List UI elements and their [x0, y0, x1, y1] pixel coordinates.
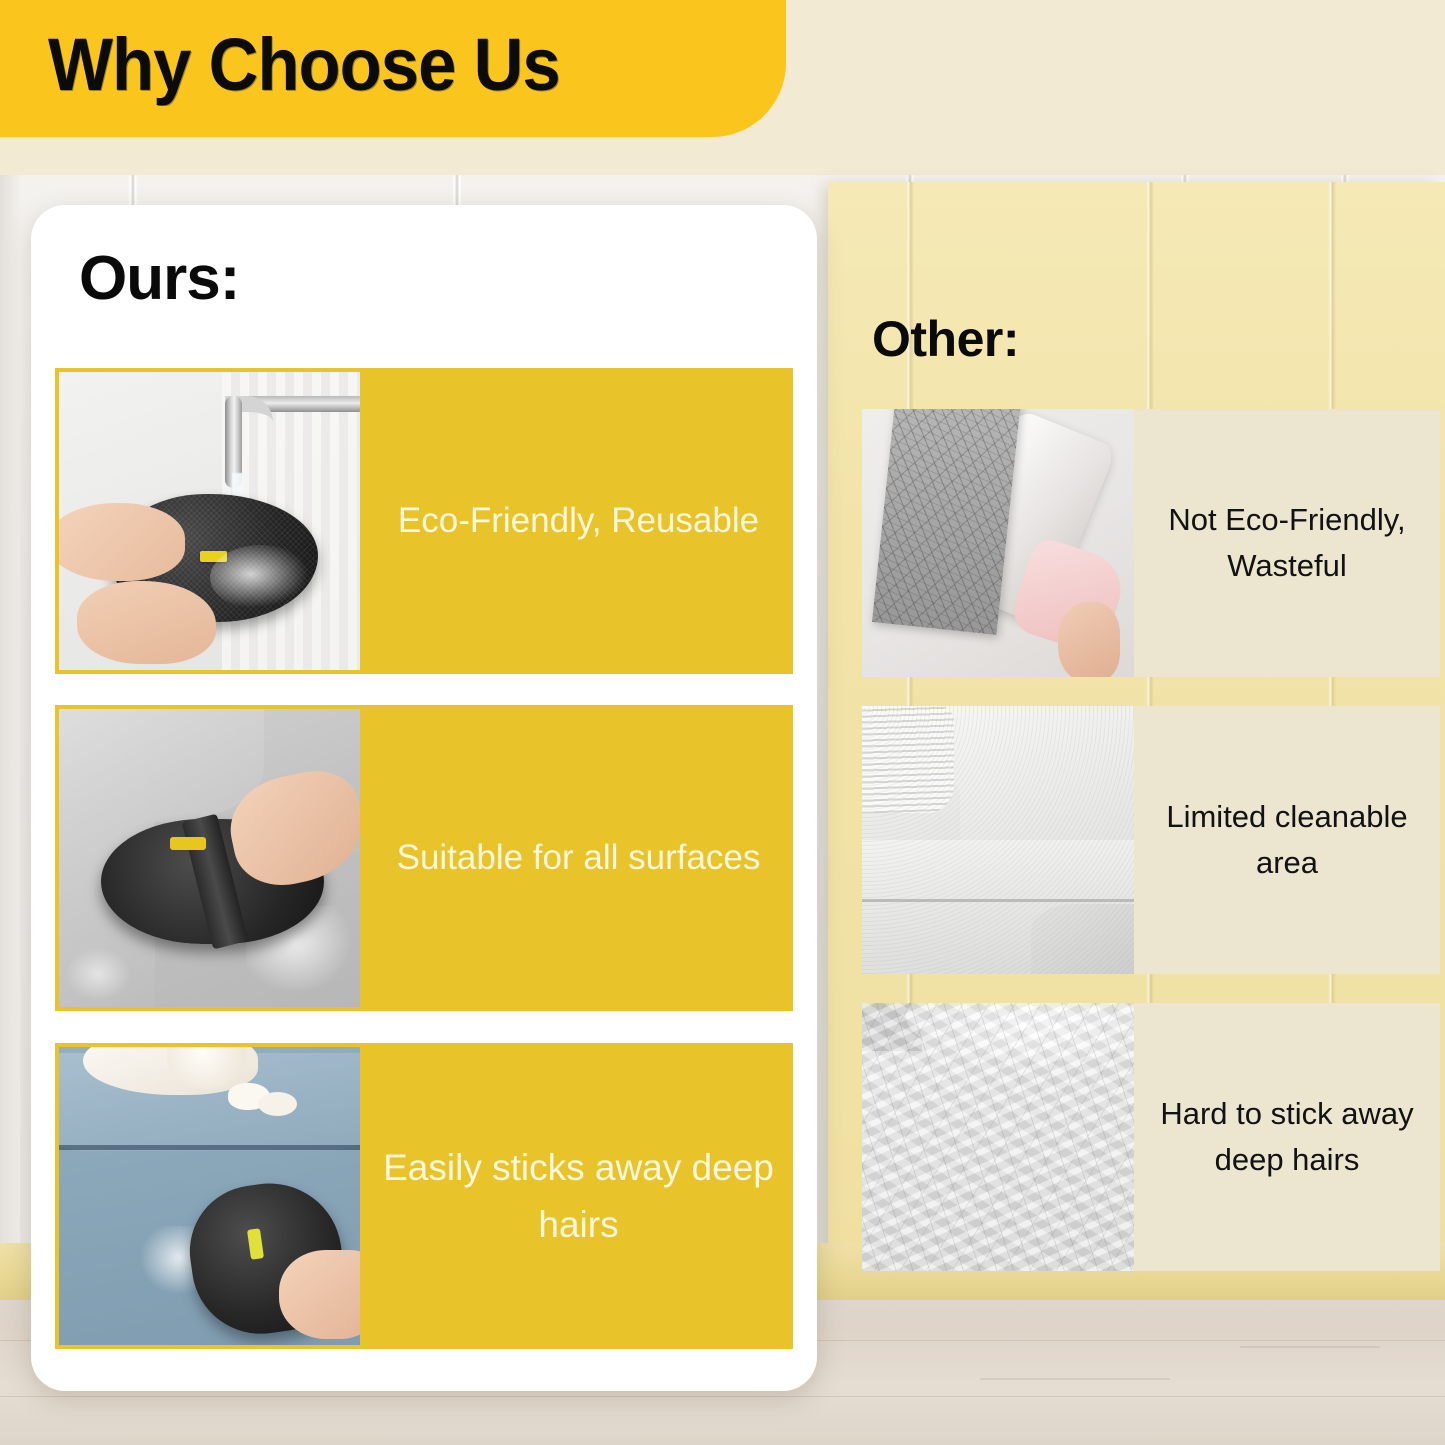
ours-feature-label: Eco-Friendly, Reusable	[364, 368, 793, 674]
ours-feature-row: Suitable for all surfaces	[55, 705, 793, 1011]
white-fur-with-hairs-photo	[862, 1003, 1134, 1271]
other-feature-row: Not Eco-Friendly, Wasteful	[862, 409, 1440, 677]
other-feature-label: Not Eco-Friendly, Wasteful	[1134, 409, 1440, 677]
pad-on-grey-sofa-photo	[55, 705, 364, 1011]
ours-feature-row: Easily sticks away deep hairs	[55, 1043, 793, 1349]
other-feature-row: Limited cleanable area	[862, 706, 1440, 974]
ours-feature-label: Suitable for all surfaces	[364, 705, 793, 1011]
other-feature-label: Limited cleanable area	[1134, 706, 1440, 974]
cat-on-blue-bed-pad-photo	[55, 1043, 364, 1349]
white-sofa-corner-photo	[862, 706, 1134, 974]
other-column-title: Other:	[872, 310, 1019, 368]
other-feature-label: Hard to stick away deep hairs	[1134, 1003, 1440, 1271]
other-feature-row: Hard to stick away deep hairs	[862, 1003, 1440, 1271]
floor-plank-line	[0, 1396, 1445, 1397]
ours-feature-row: Eco-Friendly, Reusable	[55, 368, 793, 674]
lint-roller-hairy-sheet-photo	[862, 409, 1134, 677]
floor-grain	[1240, 1346, 1380, 1348]
ours-card: Ours: Eco-Friendly, Reusable	[31, 205, 817, 1391]
ours-column-title: Ours:	[79, 243, 239, 314]
wall-left-edge	[0, 175, 20, 1270]
header-banner: Why Choose Us	[0, 0, 786, 137]
page-title: Why Choose Us	[48, 22, 560, 107]
ours-feature-label: Easily sticks away deep hairs	[364, 1043, 793, 1349]
floor-grain	[980, 1378, 1170, 1380]
hand-washing-pad-under-faucet-photo	[55, 368, 364, 674]
